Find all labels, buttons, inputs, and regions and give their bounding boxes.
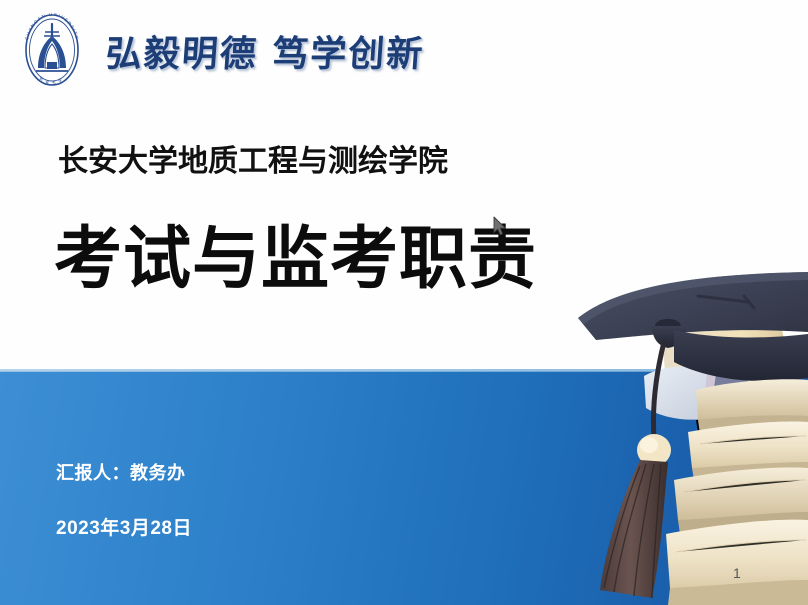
slide-title: 考试与监考职责 — [54, 224, 537, 295]
university-logo: CHANGAN UNIVERSITY 长安大学 — [14, 8, 90, 92]
school-name: 长安大学地质工程与测绘学院 — [58, 136, 448, 180]
presenter-label: 汇报人：教务办 — [56, 459, 186, 485]
page-number: 1 — [733, 565, 741, 581]
presentation-slide: CHANGAN UNIVERSITY 长安大学 弘毅明德 笃学创新 长安大学地质… — [0, 0, 808, 605]
graduation-cap-and-books-image — [548, 268, 808, 605]
university-motto: 弘毅明德 笃学创新 — [104, 25, 426, 77]
slide-header: CHANGAN UNIVERSITY 长安大学 弘毅明德 笃学创新 — [14, 8, 425, 92]
slide-date: 2023年3月28日 — [56, 513, 192, 540]
